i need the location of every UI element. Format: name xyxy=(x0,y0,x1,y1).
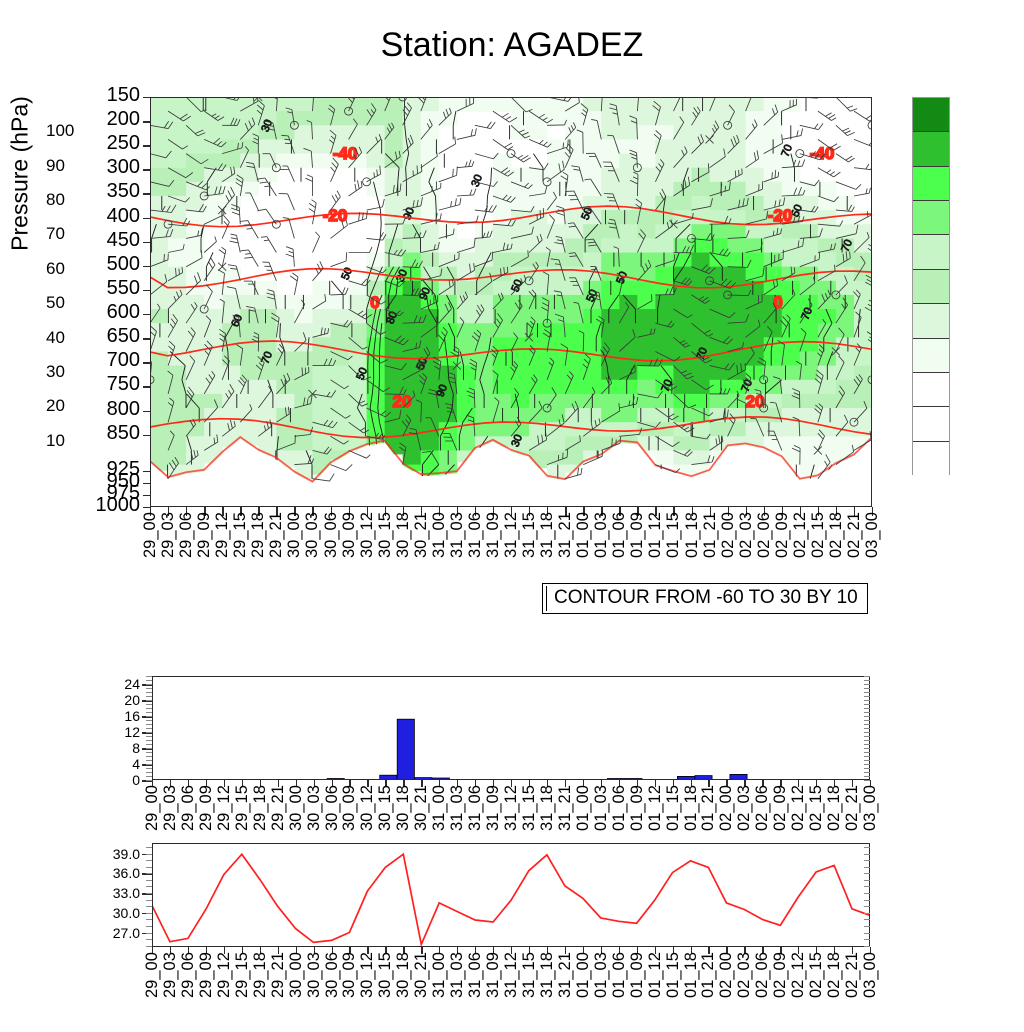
x-tick-label: 02_21 xyxy=(847,512,861,588)
rain-y-tick-label: 12 xyxy=(86,724,140,740)
x-tick-label: 01_21 xyxy=(701,952,715,1028)
rain-y-minor-tick-right xyxy=(864,684,870,685)
x-tick-label: 01_00 xyxy=(576,512,590,588)
main-y-tick-label: 250 xyxy=(20,133,140,153)
rain-y-minor-tick-right xyxy=(864,716,870,717)
colorbar-tick-label: 100 xyxy=(46,121,74,141)
x-tick-label: 30_00 xyxy=(289,952,303,1028)
rain-y-minor-tick-right xyxy=(864,736,870,737)
x-tick-label: 30_00 xyxy=(287,512,301,588)
main-y-tick-mark xyxy=(143,242,150,243)
colorbar-cell xyxy=(913,407,949,441)
temp-y-minor-tick-right xyxy=(864,860,870,861)
x-tick-label: 02_12 xyxy=(791,952,805,1028)
rain-y-minor-tick xyxy=(146,716,152,717)
x-tick-label: 30_06 xyxy=(324,512,338,588)
x-tick-label: 02_00 xyxy=(721,512,735,588)
rain-y-minor-tick-right xyxy=(864,772,870,773)
temp-y-tick-label: 39.0 xyxy=(76,846,140,862)
x-tick-label: 31_12 xyxy=(504,952,518,1028)
rain-y-tick-label: 16 xyxy=(86,708,140,724)
cross-section-plot: 3030305050507050707050709090907070506030… xyxy=(150,97,872,507)
rain-y-minor-tick-right xyxy=(864,692,870,693)
x-tick-label: 29_12 xyxy=(215,512,229,588)
x-tick-label: 30_09 xyxy=(342,512,356,588)
temp-y-minor-tick-right xyxy=(864,900,870,901)
x-tick-label: 29_21 xyxy=(269,512,283,588)
colorbar-cell xyxy=(913,304,949,338)
main-y-tick-mark xyxy=(143,435,150,436)
rain-y-minor-tick-right xyxy=(864,764,870,765)
x-tick-label: 31_21 xyxy=(558,952,572,1028)
main-y-tick-label: 500 xyxy=(20,254,140,274)
x-tick-label: 30_12 xyxy=(360,512,374,588)
rain-y-minor-tick xyxy=(146,760,152,761)
main-y-tick-label: 200 xyxy=(20,109,140,129)
rain-y-minor-tick-right xyxy=(864,756,870,757)
x-tick-label: 29_15 xyxy=(233,512,247,588)
x-tick-label: 31_09 xyxy=(486,952,500,1028)
x-tick-label: 30_21 xyxy=(414,952,428,1028)
rain-y-minor-tick xyxy=(146,684,152,685)
x-tick-label: 01_18 xyxy=(685,512,699,588)
colorbar-tick-label: 80 xyxy=(46,190,65,210)
x-tick-label: 29_00 xyxy=(143,512,157,588)
colorbar-tick-label: 20 xyxy=(46,396,65,416)
x-tick-label: 31_03 xyxy=(450,512,464,588)
x-tick-label: 01_15 xyxy=(666,952,680,1028)
main-y-tick-mark xyxy=(143,193,150,194)
rain-y-tick-label: 24 xyxy=(86,676,140,692)
main-y-tick-label: 350 xyxy=(20,181,140,201)
x-tick-label: 30_03 xyxy=(307,952,321,1028)
x-tick-label: 01_15 xyxy=(666,512,680,588)
rain-y-minor-tick xyxy=(146,692,152,693)
colorbar-cell xyxy=(913,270,949,304)
x-tick-label: 02_18 xyxy=(829,512,843,588)
colorbar-cell xyxy=(913,132,949,166)
temp-y-tick-label: 27.0 xyxy=(76,925,140,941)
x-tick-label: 01_18 xyxy=(684,952,698,1028)
x-tick-label: 31_12 xyxy=(504,512,518,588)
rain-y-minor-tick xyxy=(146,740,152,741)
rain-y-minor-tick xyxy=(146,736,152,737)
rain-y-tick-label: 4 xyxy=(86,756,140,772)
rain-y-minor-tick-right xyxy=(864,748,870,749)
x-tick-label: 31_06 xyxy=(468,512,482,588)
page-title: Station: AGADEZ xyxy=(0,26,1024,65)
main-y-tick-mark xyxy=(143,121,150,122)
main-y-tick-label: 550 xyxy=(20,278,140,298)
temp-y-minor-tick-right xyxy=(864,939,870,940)
colorbar-cell xyxy=(913,98,949,132)
temp-y-minor-tick xyxy=(146,913,152,914)
colorbar-cell xyxy=(913,201,949,235)
contour-caption: CONTOUR FROM -60 TO 30 BY 10 xyxy=(542,583,868,614)
temp-y-minor-tick xyxy=(146,906,152,907)
x-tick-label: 29_06 xyxy=(179,512,193,588)
temp-y-minor-tick-right xyxy=(864,893,870,894)
colorbar-tick-label: 10 xyxy=(46,431,65,451)
svg-text:30: 30 xyxy=(469,173,485,189)
x-tick-label: 02_03 xyxy=(739,512,753,588)
x-tick-label: 02_09 xyxy=(775,512,789,588)
x-tick-label: 02_12 xyxy=(793,512,807,588)
x-tick-label: 29_06 xyxy=(181,952,195,1028)
rain-y-minor-tick-right xyxy=(864,700,870,701)
x-tick-label: 01_09 xyxy=(630,512,644,588)
temp-y-tick-label: 30.0 xyxy=(76,905,140,921)
main-y-tick-mark xyxy=(143,218,150,219)
rain-y-minor-tick xyxy=(146,732,152,733)
x-tick-label: 31_00 xyxy=(432,512,446,588)
rain-y-minor-tick-right xyxy=(864,704,870,705)
x-tick-label: 01_06 xyxy=(612,952,626,1028)
x-tick-label: 30_06 xyxy=(325,952,339,1028)
x-tick-label: 30_21 xyxy=(414,512,428,588)
rain-y-minor-tick-right xyxy=(864,680,870,681)
rain-y-minor-tick-right xyxy=(864,768,870,769)
colorbar-tick-label: 70 xyxy=(46,224,65,244)
rain-y-minor-tick xyxy=(146,764,152,765)
x-tick-label: 29_09 xyxy=(197,512,211,588)
rain-y-minor-tick xyxy=(146,768,152,769)
x-tick-label: 01_06 xyxy=(612,512,626,588)
rain-y-minor-tick-right xyxy=(864,676,870,677)
x-tick-label: 30_09 xyxy=(342,952,356,1028)
x-tick-label: 02_00 xyxy=(719,952,733,1028)
x-tick-label: 01_12 xyxy=(648,512,662,588)
rain-y-minor-tick xyxy=(146,772,152,773)
temp-y-minor-tick-right xyxy=(864,880,870,881)
time-height-cross-section-panel: 3030305050507050707050709090907070506030… xyxy=(150,97,872,507)
main-y-tick-mark xyxy=(143,495,150,496)
rain-y-minor-tick-right xyxy=(864,760,870,761)
temp-y-minor-tick xyxy=(146,933,152,934)
main-y-tick-mark xyxy=(143,483,150,484)
temp-y-minor-tick-right xyxy=(864,886,870,887)
main-y-tick-label: 1000 xyxy=(20,495,140,515)
x-tick-label: 29_09 xyxy=(199,952,213,1028)
rain-bar-chart xyxy=(152,676,870,780)
x-tick-label: 29_18 xyxy=(251,512,265,588)
x-tick-label: 31_00 xyxy=(432,952,446,1028)
temp-y-minor-tick xyxy=(146,886,152,887)
main-y-tick-label: 450 xyxy=(20,230,140,250)
colorbar-tick-label: 30 xyxy=(46,362,65,382)
svg-text:-20: -20 xyxy=(768,206,793,225)
rain-y-minor-tick xyxy=(146,724,152,725)
rain-y-minor-tick xyxy=(146,680,152,681)
svg-text:-40: -40 xyxy=(810,144,835,163)
temp-x-axis-labels: 29_0029_0329_0629_0929_1229_1529_1829_21… xyxy=(152,952,870,1032)
main-y-tick-label: 400 xyxy=(20,206,140,226)
main-y-tick-mark xyxy=(143,145,150,146)
main-y-tick-label: 150 xyxy=(20,85,140,105)
x-tick-label: 30_18 xyxy=(396,512,410,588)
x-tick-label: 02_21 xyxy=(845,952,859,1028)
x-tick-label: 02_15 xyxy=(811,512,825,588)
x-tick-label: 29_00 xyxy=(145,952,159,1028)
main-y-tick-label: 850 xyxy=(20,423,140,443)
x-tick-label: 03_00 xyxy=(865,512,879,588)
temp-y-minor-tick-right xyxy=(864,906,870,907)
x-tick-label: 30_15 xyxy=(378,952,392,1028)
rain-y-minor-tick xyxy=(146,704,152,705)
x-tick-label: 31_06 xyxy=(468,952,482,1028)
x-tick-label: 31_15 xyxy=(522,952,536,1028)
rain-y-minor-tick xyxy=(146,676,152,677)
x-tick-label: 02_15 xyxy=(809,952,823,1028)
svg-text:-40: -40 xyxy=(333,144,358,163)
colorbar-cell xyxy=(913,167,949,201)
temp-panel xyxy=(152,843,870,947)
rain-y-minor-tick xyxy=(146,756,152,757)
x-tick-label: 30_12 xyxy=(360,952,374,1028)
main-y-tick-mark xyxy=(143,314,150,315)
x-tick-label: 03_00 xyxy=(863,952,877,1028)
rain-y-minor-tick xyxy=(146,752,152,753)
temp-y-tick-label: 33.0 xyxy=(76,885,140,901)
temp-y-minor-tick xyxy=(146,867,152,868)
main-y-tick-mark xyxy=(143,338,150,339)
main-y-tick-mark xyxy=(143,507,150,508)
rain-y-minor-tick-right xyxy=(864,744,870,745)
rain-y-tick-label: 20 xyxy=(86,692,140,708)
x-tick-label: 30_03 xyxy=(305,512,319,588)
x-tick-label: 29_18 xyxy=(253,952,267,1028)
rain-y-minor-tick-right xyxy=(864,708,870,709)
temp-y-minor-tick-right xyxy=(864,926,870,927)
temp-y-tick-label: 36.0 xyxy=(76,865,140,881)
rain-y-minor-tick xyxy=(146,696,152,697)
rain-y-minor-tick-right xyxy=(864,752,870,753)
rain-y-minor-tick xyxy=(146,720,152,721)
temp-y-minor-tick xyxy=(146,926,152,927)
rain-y-minor-tick xyxy=(146,712,152,713)
main-y-tick-label: 700 xyxy=(20,350,140,370)
x-tick-label: 01_12 xyxy=(648,952,662,1028)
rain-y-tick-label: 0 xyxy=(86,772,140,788)
svg-text:-20: -20 xyxy=(323,206,348,225)
main-y-tick-mark xyxy=(143,169,150,170)
x-tick-label: 29_03 xyxy=(163,952,177,1028)
x-tick-label: 30_15 xyxy=(378,512,392,588)
main-y-tick-mark xyxy=(143,471,150,472)
main-y-tick-label: 800 xyxy=(20,399,140,419)
rain-y-minor-tick xyxy=(146,776,152,777)
rain-y-minor-tick xyxy=(146,728,152,729)
temp-y-minor-tick xyxy=(146,900,152,901)
x-tick-label: 29_21 xyxy=(271,952,285,1028)
rain-y-minor-tick-right xyxy=(864,696,870,697)
temp-y-minor-tick-right xyxy=(864,847,870,848)
x-tick-label: 02_03 xyxy=(737,952,751,1028)
main-y-tick-label: 600 xyxy=(20,302,140,322)
temp-y-minor-tick xyxy=(146,847,152,848)
temp-y-minor-tick xyxy=(146,854,152,855)
x-tick-label: 29_12 xyxy=(217,952,231,1028)
colorbar-cell xyxy=(913,339,949,373)
relative-humidity-colorbar xyxy=(912,97,950,475)
main-y-tick-label: 650 xyxy=(20,326,140,346)
colorbar-cell xyxy=(913,442,949,476)
rain-y-minor-tick-right xyxy=(864,732,870,733)
x-tick-label: 02_18 xyxy=(827,952,841,1028)
rain-y-minor-tick-right xyxy=(864,776,870,777)
temp-y-minor-tick-right xyxy=(864,913,870,914)
x-tick-label: 29_15 xyxy=(235,952,249,1028)
temperature-line-chart xyxy=(152,843,870,947)
rain-y-minor-tick xyxy=(146,700,152,701)
rain-y-tick-label: 8 xyxy=(86,740,140,756)
svg-text:50: 50 xyxy=(339,266,355,282)
main-y-tick-mark xyxy=(143,411,150,412)
main-y-tick-mark xyxy=(143,97,150,98)
main-y-tick-mark xyxy=(143,362,150,363)
colorbar-tick-label: 50 xyxy=(46,293,65,313)
rain-y-minor-tick xyxy=(146,744,152,745)
x-tick-label: 01_03 xyxy=(594,952,608,1028)
rain-y-minor-tick-right xyxy=(864,728,870,729)
main-x-axis-labels: 29_0029_0329_0629_0929_1229_1529_1829_21… xyxy=(150,512,872,592)
temp-y-minor-tick-right xyxy=(864,867,870,868)
main-y-tick-label: 750 xyxy=(20,374,140,394)
colorbar-cell xyxy=(913,373,949,407)
temp-y-minor-tick xyxy=(146,893,152,894)
temp-y-minor-tick-right xyxy=(864,919,870,920)
main-y-tick-mark xyxy=(143,386,150,387)
rain-y-minor-tick xyxy=(146,748,152,749)
x-tick-label: 29_03 xyxy=(161,512,175,588)
x-tick-label: 31_18 xyxy=(540,952,554,1028)
x-tick-label: 01_09 xyxy=(630,952,644,1028)
rain-y-minor-tick-right xyxy=(864,740,870,741)
colorbar-tick-label: 90 xyxy=(46,156,65,176)
temp-y-minor-tick xyxy=(146,873,152,874)
x-tick-label: 02_06 xyxy=(755,952,769,1028)
x-tick-label: 30_18 xyxy=(396,952,410,1028)
rain-y-minor-tick-right xyxy=(864,724,870,725)
main-y-tick-mark xyxy=(143,290,150,291)
temp-y-minor-tick-right xyxy=(864,933,870,934)
x-tick-label: 01_00 xyxy=(576,952,590,1028)
x-tick-label: 31_09 xyxy=(486,512,500,588)
main-y-tick-mark xyxy=(143,266,150,267)
rain-panel xyxy=(152,676,870,780)
x-tick-label: 31_18 xyxy=(540,512,554,588)
main-y-tick-label: 300 xyxy=(20,157,140,177)
colorbar-cell xyxy=(913,235,949,269)
x-tick-label: 31_15 xyxy=(522,512,536,588)
x-tick-label: 31_21 xyxy=(558,512,572,588)
x-tick-label: 02_06 xyxy=(757,512,771,588)
rain-y-minor-tick xyxy=(146,708,152,709)
temp-y-minor-tick xyxy=(146,880,152,881)
rain-y-minor-tick xyxy=(146,688,152,689)
x-tick-label: 01_21 xyxy=(703,512,717,588)
x-tick-label: 31_03 xyxy=(450,952,464,1028)
temp-y-minor-tick-right xyxy=(864,854,870,855)
x-tick-label: 01_03 xyxy=(594,512,608,588)
temp-y-minor-tick xyxy=(146,939,152,940)
rain-y-minor-tick-right xyxy=(864,688,870,689)
svg-text:0: 0 xyxy=(773,293,782,312)
colorbar-tick-label: 60 xyxy=(46,259,65,279)
colorbar-tick-label: 40 xyxy=(46,328,65,348)
temp-y-minor-tick xyxy=(146,860,152,861)
rain-y-minor-tick-right xyxy=(864,720,870,721)
x-tick-label: 02_09 xyxy=(773,952,787,1028)
temp-y-minor-tick xyxy=(146,919,152,920)
rain-y-minor-tick-right xyxy=(864,712,870,713)
temp-y-minor-tick-right xyxy=(864,873,870,874)
